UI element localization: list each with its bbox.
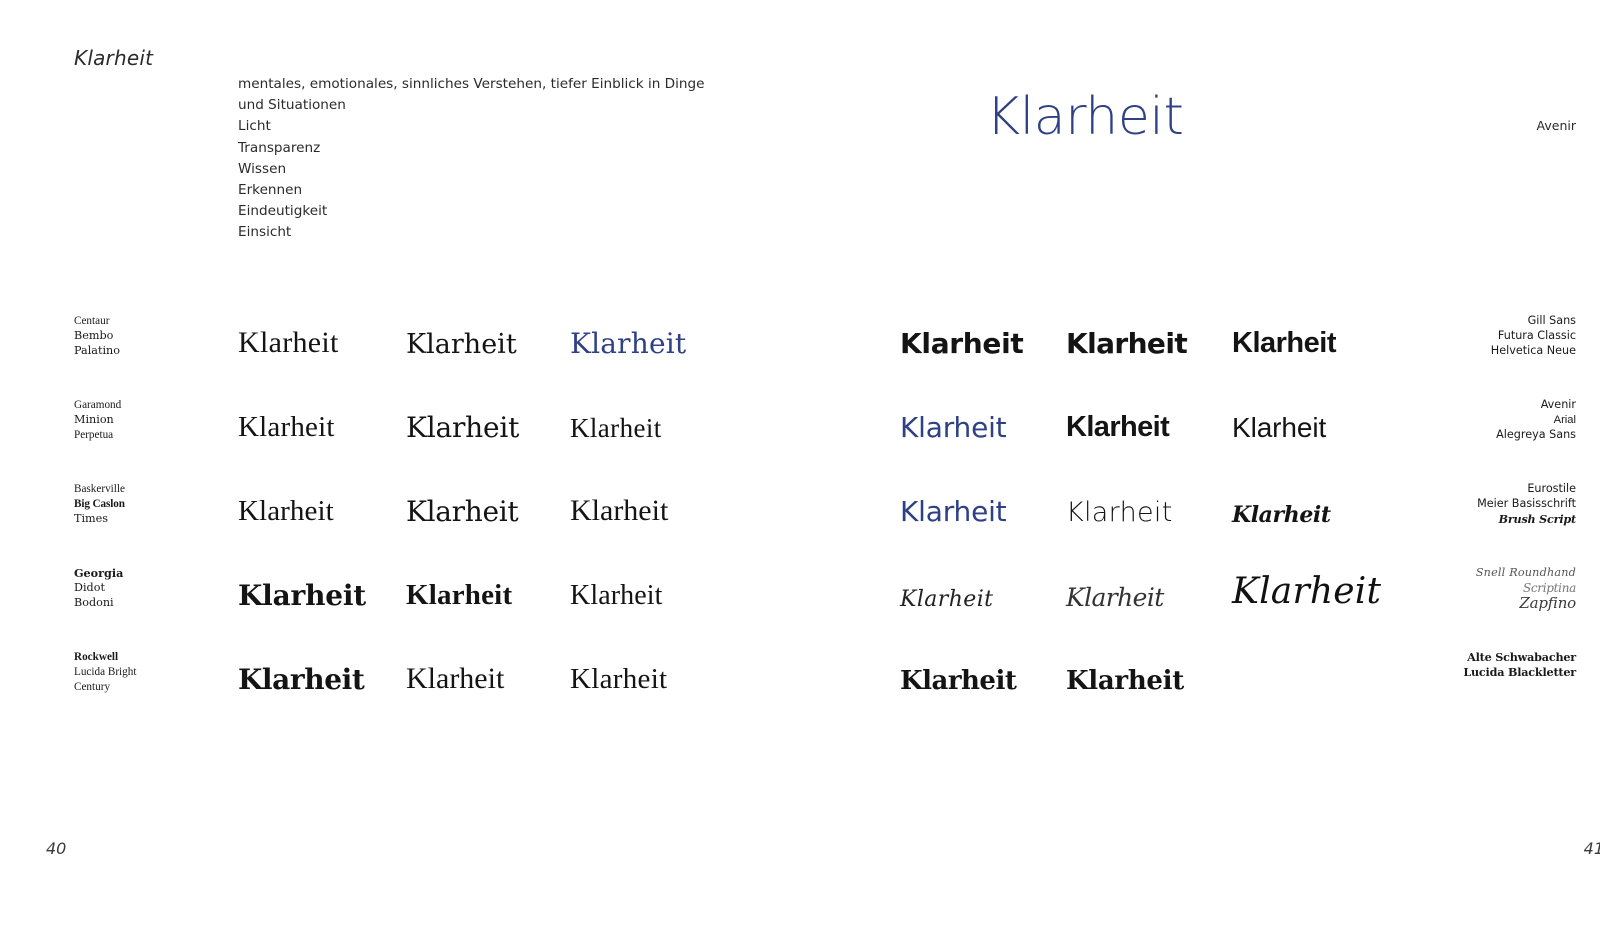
label-brush-script: Brush Script [1477,512,1576,527]
specimen-gill-sans: Klarheit [900,327,1024,360]
row-serif-labels: Garamond Minion Perpetua [74,398,121,442]
row-sans-labels: Eurostile Meier Basisschrift Brush Scrip… [1477,482,1576,526]
label-centaur: Centaur [74,314,120,329]
specimen-perpetua: Klarheit [570,413,662,444]
specimen-rockwell: Klarheit [238,663,364,696]
specimen-row: Rockwell Lucida Bright Century Klarheit … [0,636,1600,720]
specimen-helvetica-neue: Klarheit [1232,327,1336,360]
label-georgia: Georgia [74,566,123,581]
label-lucida-blackletter: Lucida Blackletter [1463,665,1576,680]
specimen-futura-classic: Klarheit [1066,327,1187,360]
definition-block: mentales, emotionales, sinnliches Verste… [238,74,718,244]
specimen-lucida-blackletter: Klarheit [1066,666,1184,696]
label-avenir: Avenir [1496,398,1576,413]
label-garamond: Garamond [74,398,121,413]
label-minion: Minion [74,413,121,428]
specimen-row: Baskerville Big Caslon Times Klarheit Kl… [0,468,1600,552]
label-bodoni: Bodoni [74,596,123,611]
specimen-palatino: Klarheit [570,327,686,360]
keyword-einsicht: Einsicht [238,222,718,243]
specimen-snell-roundhand: Klarheit [900,587,993,612]
label-zapfino: Zapfino [1476,596,1576,611]
specimen-bembo: Klarheit [406,329,517,360]
label-meier-basisschrift: Meier Basisschrift [1477,497,1576,512]
specimen-row: Georgia Didot Bodoni Klarheit Klarheit K… [0,552,1600,636]
specimen-avenir: Klarheit [900,411,1006,444]
specimen-eurostile: Klarheit [900,495,1006,528]
specimen-georgia: Klarheit [238,579,366,612]
label-perpetua: Perpetua [74,428,121,443]
row-serif-labels: Centaur Bembo Palatino [74,314,120,358]
specimen-arial: Klarheit [1066,411,1169,444]
label-didot: Didot [74,581,123,596]
row-sans-labels: Gill Sans Futura Classic Helvetica Neue [1491,314,1576,358]
label-baskerville: Baskerville [74,482,125,497]
specimen-century: Klarheit [570,663,667,696]
specimen-bodoni: Klarheit [570,580,663,612]
label-gill-sans: Gill Sans [1491,314,1576,329]
keyword-wissen: Wissen [238,159,718,180]
label-snell-roundhand: Snell Roundhand [1476,566,1576,581]
specimen-meier-basisschrift: Klarheit [1066,497,1173,528]
row-sans-labels: Alte Schwabacher Lucida Blackletter [1463,650,1576,680]
label-bembo: Bembo [74,329,120,344]
label-alegreya-sans: Alegreya Sans [1496,428,1576,443]
keyword-transparenz: Transparenz [238,138,718,159]
definition-lead-text: mentales, emotionales, sinnliches Verste… [238,74,716,116]
label-lucida-bright: Lucida Bright [74,665,136,680]
folio-left: 40 [46,839,66,858]
specimen-times: Klarheit [570,494,668,528]
specimen-brush-script: Klarheit [1232,502,1331,528]
label-rockwell: Rockwell [74,650,136,665]
label-helvetica-neue: Helvetica Neue [1491,344,1576,359]
row-serif-labels: Georgia Didot Bodoni [74,566,123,610]
specimen-row: Centaur Bembo Palatino Klarheit Klarheit… [0,300,1600,384]
display-headline: Klarheit [986,88,1183,146]
typography-specimen-spread: Klarheit mentales, emotionales, sinnlich… [0,0,1600,952]
label-century: Century [74,680,136,695]
specimen-lucida-bright: Klarheit [406,662,504,696]
specimen-didot: Klarheit [406,579,512,612]
row-serif-labels: Baskerville Big Caslon Times [74,482,125,526]
keyword-eindeutigkeit: Eindeutigkeit [238,201,718,222]
label-big-caslon: Big Caslon [74,497,125,512]
specimen-alte-schwabacher: Klarheit [900,666,1016,696]
row-serif-labels: Rockwell Lucida Bright Century [74,650,136,694]
headline-typeface-credit: Avenir [1537,118,1576,133]
specimen-centaur: Klarheit [238,326,339,360]
specimen-garamond: Klarheit [238,411,335,444]
specimen-scriptina: Klarheit [1066,583,1164,612]
row-sans-labels: Avenir Arial Alegreya Sans [1496,398,1576,442]
label-alte-schwabacher: Alte Schwabacher [1463,650,1576,665]
keyword-erkennen: Erkennen [238,180,718,201]
row-sans-labels: Snell Roundhand Scriptina Zapfino [1476,566,1576,610]
specimen-alegreya-sans: Klarheit [1232,412,1326,444]
label-arial: Arial [1496,413,1576,428]
specimen-minion: Klarheit [406,411,519,444]
label-palatino: Palatino [74,344,120,359]
specimen-row: Garamond Minion Perpetua Klarheit Klarhe… [0,384,1600,468]
label-eurostile: Eurostile [1477,482,1576,497]
specimen-big-caslon: Klarheit [406,495,518,528]
specimen-grid: Centaur Bembo Palatino Klarheit Klarheit… [0,300,1600,720]
specimen-zapfino: Klarheit [1232,571,1381,612]
folio-right: 41 [1584,839,1600,858]
running-title: Klarheit [74,46,153,70]
keyword-licht: Licht [238,116,718,137]
specimen-baskerville: Klarheit [238,495,334,528]
label-futura-classic: Futura Classic [1491,329,1576,344]
label-times: Times [74,512,125,527]
